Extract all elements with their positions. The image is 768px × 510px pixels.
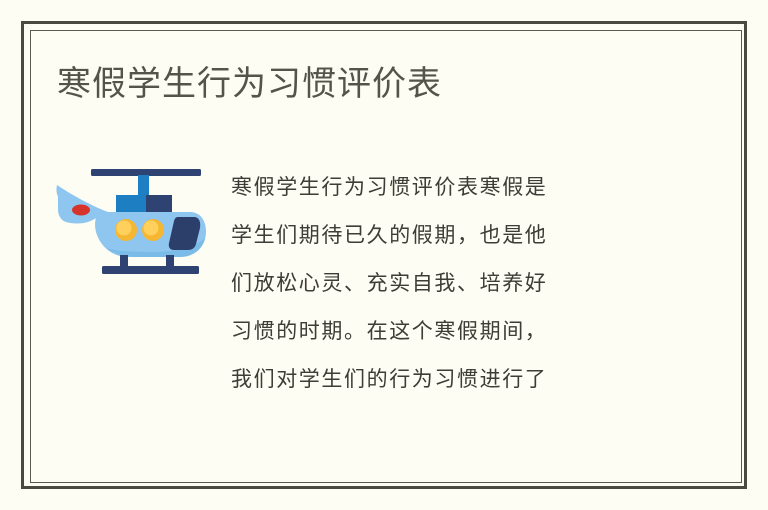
- engine-housing-light-icon: [116, 195, 146, 212]
- page-title: 寒假学生行为习惯评价表: [57, 62, 442, 106]
- rotor-mast-icon: [138, 175, 149, 198]
- paragraph-line: 们放松心灵、充实自我、培养好: [231, 259, 651, 307]
- skid-strut-right-icon: [166, 255, 174, 267]
- engine-housing-dark-icon: [146, 195, 172, 212]
- paragraph-line: 学生们期待已久的假期，也是他: [231, 211, 651, 259]
- paragraph-line: 寒假学生行为习惯评价表寒假是: [231, 163, 651, 211]
- tail-light-icon: [72, 205, 90, 216]
- skid-strut-left-icon: [120, 255, 128, 267]
- porthole-right-highlight-icon: [144, 221, 159, 236]
- paragraph-line: 我们对学生们的行为习惯进行了: [231, 355, 651, 403]
- landing-skid-icon: [102, 266, 199, 274]
- paragraph-line: 习惯的时期。在这个寒假期间，: [231, 307, 651, 355]
- porthole-left-highlight-icon: [117, 221, 132, 236]
- page-root: 寒假学生行为习惯评价表: [0, 0, 768, 510]
- helicopter-illustration: [54, 162, 216, 277]
- body-paragraph: 寒假学生行为习惯评价表寒假是 学生们期待已久的假期，也是他 们放松心灵、充实自我…: [231, 163, 651, 403]
- rotor-blade-icon: [91, 169, 201, 176]
